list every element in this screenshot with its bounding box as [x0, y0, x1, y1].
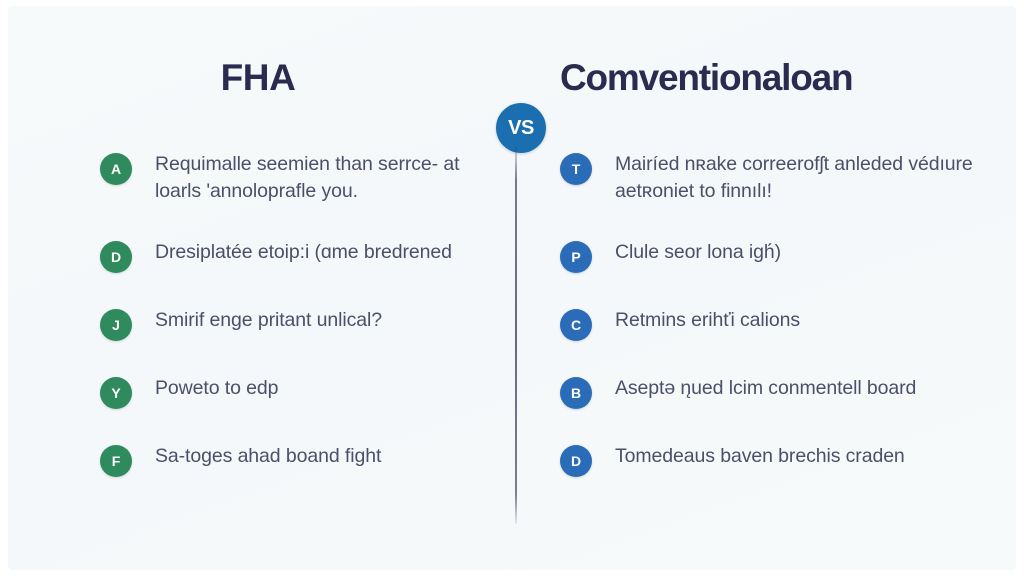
- vs-badge-icon: VS: [496, 103, 546, 153]
- list-item-label: Smirif enge pritant unlicaƖ?: [155, 307, 382, 334]
- list-item: D Tomedeaus baven brechis craden: [560, 443, 980, 477]
- list-item: F Sa-toges ahad boand fight: [100, 443, 500, 477]
- conventional-feature-list: T Mairíed nʀake correerofʃt anleded védı…: [560, 151, 980, 511]
- bullet-badge-icon: D: [100, 241, 132, 273]
- list-item: D Dresiplatée etoip:i (ɑme bredrened: [100, 239, 500, 273]
- bullet-badge-icon: A: [100, 153, 132, 185]
- list-item: P Clule seor lona igh́): [560, 239, 980, 273]
- list-item-label: Tomedeaus baven brechis craden: [615, 443, 905, 470]
- list-item-label: Mairíed nʀake correerofʃt anleded védıur…: [615, 151, 980, 205]
- list-item-label: Dresiplatée etoip:i (ɑme bredrened: [155, 239, 452, 266]
- list-item: A Requimalle seemien than serrce- at loa…: [100, 151, 500, 205]
- bullet-badge-icon: J: [100, 309, 132, 341]
- bullet-badge-icon: F: [100, 445, 132, 477]
- list-item-label: Aseptə n̨ued lcim conmentell board: [615, 375, 916, 402]
- fha-column-title: FHA: [8, 50, 508, 106]
- list-item: Y Poweto to edp: [100, 375, 500, 409]
- bullet-badge-icon: Y: [100, 377, 132, 409]
- bullet-badge-icon: C: [560, 309, 592, 341]
- list-item-label: Sa-toges ahad boand fight: [155, 443, 381, 470]
- comparison-header: FHA VS Comventionaloan: [8, 50, 1016, 116]
- bullet-badge-icon: P: [560, 241, 592, 273]
- conventional-column-title: Comventionaloan: [560, 50, 1000, 106]
- list-item: T Mairíed nʀake correerofʃt anleded védı…: [560, 151, 980, 205]
- list-item: J Smirif enge pritant unlicaƖ?: [100, 307, 500, 341]
- loan-comparison-card: FHA VS Comventionaloan A Requimalle seem…: [8, 6, 1016, 570]
- list-item-label: Clule seor lona igh́): [615, 239, 781, 266]
- fha-feature-list: A Requimalle seemien than serrce- at loa…: [100, 151, 500, 511]
- column-divider: [515, 146, 517, 524]
- list-item-label: Requimalle seemien than serrce- at loarl…: [155, 151, 500, 205]
- bullet-badge-icon: D: [560, 445, 592, 477]
- bullet-badge-icon: B: [560, 377, 592, 409]
- list-item: B Aseptə n̨ued lcim conmentell board: [560, 375, 980, 409]
- list-item-label: Retmins erihťi calions: [615, 307, 800, 334]
- list-item-label: Poweto to edp: [155, 375, 278, 402]
- bullet-badge-icon: T: [560, 153, 592, 185]
- list-item: C Retmins erihťi calions: [560, 307, 980, 341]
